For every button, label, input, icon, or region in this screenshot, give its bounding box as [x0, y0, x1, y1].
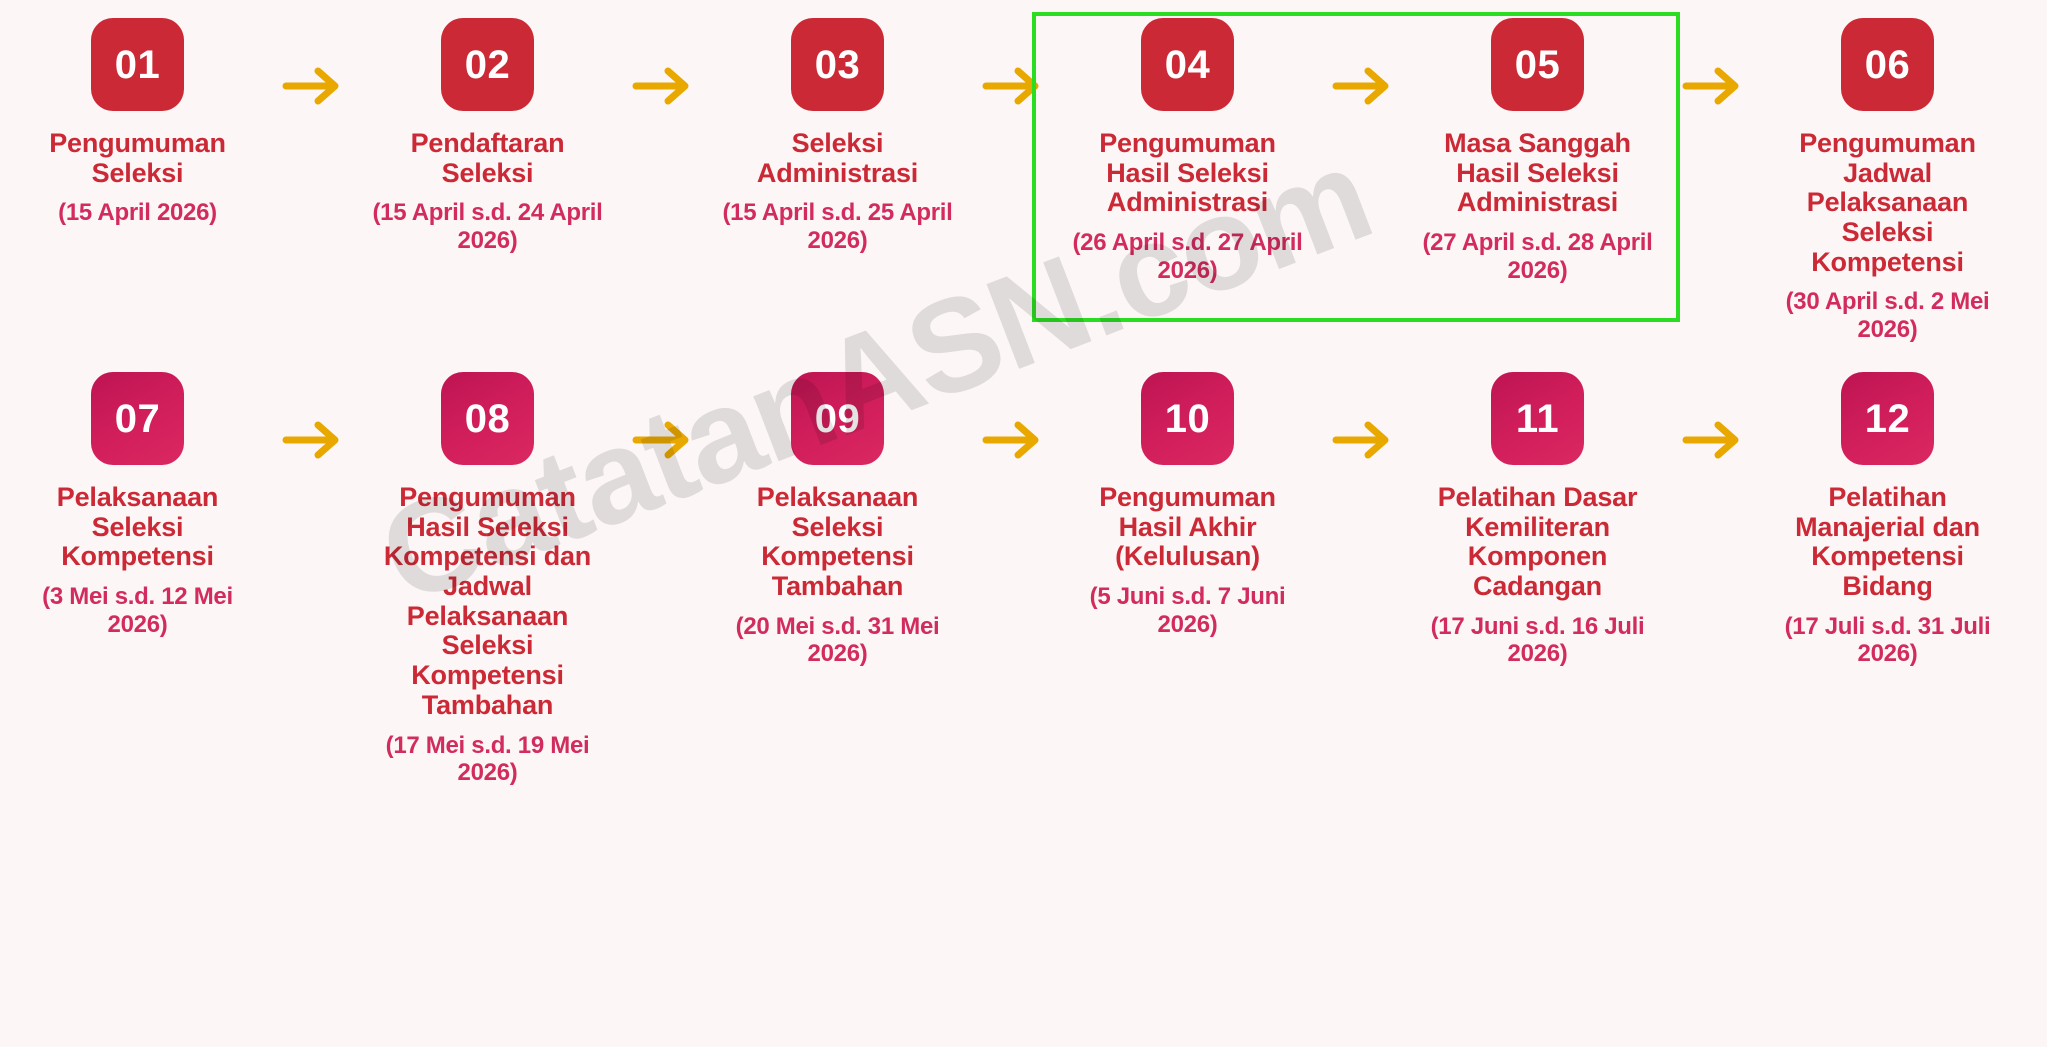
- connector-02-03: [605, 18, 720, 154]
- step-title: Seleksi Administrasi: [725, 129, 950, 188]
- arrow-right-icon: [982, 420, 1044, 460]
- step-title: Pengumuman Hasil Akhir (Kelulusan): [1075, 483, 1300, 572]
- step-title: Pelaksanaan Seleksi Kompetensi: [25, 483, 250, 572]
- step-number-badge: 12: [1841, 372, 1934, 465]
- arrow-right-icon: [1682, 420, 1744, 460]
- step-title: Pengumuman Seleksi: [25, 129, 250, 188]
- connector-04-05: [1305, 18, 1420, 154]
- arrow-right-icon: [632, 66, 694, 106]
- connector-09-10: [955, 372, 1070, 508]
- arrow-right-icon: [1682, 66, 1744, 106]
- step-number-badge: 06: [1841, 18, 1934, 111]
- arrow-right-icon: [282, 420, 344, 460]
- step-dates: (3 Mei s.d. 12 Mei 2026): [20, 583, 255, 638]
- arrow-right-icon: [982, 66, 1044, 106]
- step-dates: (20 Mei s.d. 31 Mei 2026): [720, 613, 955, 668]
- step-number-badge: 09: [791, 372, 884, 465]
- timeline-infographic: CatatanASN.com 01 Pengumuman Seleksi (15…: [0, 0, 2047, 1047]
- step-dates: (5 Juni s.d. 7 Juni 2026): [1070, 583, 1305, 638]
- timeline-step-10[interactable]: 10 Pengumuman Hasil Akhir (Kelulusan) (5…: [1070, 372, 1305, 638]
- step-dates: (15 April s.d. 24 April 2026): [370, 199, 605, 254]
- step-title: Pengumuman Hasil Seleksi Kompetensi dan …: [375, 483, 600, 721]
- step-dates: (27 April s.d. 28 April 2026): [1420, 229, 1655, 284]
- connector-07-08: [255, 372, 370, 508]
- step-dates: (15 April s.d. 25 April 2026): [720, 199, 955, 254]
- timeline-step-12[interactable]: 12 Pelatihan Manajerial dan Kompetensi B…: [1770, 372, 2005, 668]
- timeline-row-2: 07 Pelaksanaan Seleksi Kompetensi (3 Mei…: [0, 372, 2047, 787]
- timeline-step-01[interactable]: 01 Pengumuman Seleksi (15 April 2026): [20, 18, 255, 227]
- step-number-badge: 01: [91, 18, 184, 111]
- step-dates: (17 Juli s.d. 31 Juli 2026): [1770, 613, 2005, 668]
- step-title: Pelatihan Dasar Kemiliteran Komponen Cad…: [1425, 483, 1650, 602]
- step-dates: (15 April 2026): [20, 199, 255, 227]
- step-dates: (17 Juni s.d. 16 Juli 2026): [1420, 613, 1655, 668]
- connector-08-09: [605, 372, 720, 508]
- timeline-step-06[interactable]: 06 Pengumuman Jadwal Pelaksanaan Seleksi…: [1770, 18, 2005, 344]
- step-dates: (30 April s.d. 2 Mei 2026): [1770, 288, 2005, 343]
- timeline-step-08[interactable]: 08 Pengumuman Hasil Seleksi Kompetensi d…: [370, 372, 605, 787]
- timeline-step-09[interactable]: 09 Pelaksanaan Seleksi Kompetensi Tambah…: [720, 372, 955, 668]
- connector-05-06: [1655, 18, 1770, 154]
- step-dates: (26 April s.d. 27 April 2026): [1070, 229, 1305, 284]
- step-number-badge: 11: [1491, 372, 1584, 465]
- step-title: Pendaftaran Seleksi: [375, 129, 600, 188]
- step-number-badge: 05: [1491, 18, 1584, 111]
- connector-01-02: [255, 18, 370, 154]
- arrow-right-icon: [1332, 420, 1394, 460]
- step-number-badge: 03: [791, 18, 884, 111]
- connector-11-12: [1655, 372, 1770, 508]
- timeline-row-1: 01 Pengumuman Seleksi (15 April 2026) 02…: [0, 18, 2047, 344]
- timeline-step-05[interactable]: 05 Masa Sanggah Hasil Seleksi Administra…: [1420, 18, 1655, 284]
- connector-03-04: [955, 18, 1070, 154]
- timeline-step-02[interactable]: 02 Pendaftaran Seleksi (15 April s.d. 24…: [370, 18, 605, 255]
- timeline-step-11[interactable]: 11 Pelatihan Dasar Kemiliteran Komponen …: [1420, 372, 1655, 668]
- step-title: Pelaksanaan Seleksi Kompetensi Tambahan: [725, 483, 950, 602]
- step-title: Masa Sanggah Hasil Seleksi Administrasi: [1425, 129, 1650, 218]
- step-number-badge: 02: [441, 18, 534, 111]
- timeline-step-07[interactable]: 07 Pelaksanaan Seleksi Kompetensi (3 Mei…: [20, 372, 255, 638]
- arrow-right-icon: [632, 420, 694, 460]
- arrow-right-icon: [1332, 66, 1394, 106]
- step-number-badge: 10: [1141, 372, 1234, 465]
- step-number-badge: 04: [1141, 18, 1234, 111]
- connector-10-11: [1305, 372, 1420, 508]
- step-title: Pengumuman Jadwal Pelaksanaan Seleksi Ko…: [1775, 129, 2000, 277]
- timeline-step-03[interactable]: 03 Seleksi Administrasi (15 April s.d. 2…: [720, 18, 955, 255]
- step-number-badge: 08: [441, 372, 534, 465]
- step-title: Pelatihan Manajerial dan Kompetensi Bida…: [1775, 483, 2000, 602]
- step-dates: (17 Mei s.d. 19 Mei 2026): [370, 732, 605, 787]
- step-title: Pengumuman Hasil Seleksi Administrasi: [1075, 129, 1300, 218]
- timeline-step-04[interactable]: 04 Pengumuman Hasil Seleksi Administrasi…: [1070, 18, 1305, 284]
- arrow-right-icon: [282, 66, 344, 106]
- step-number-badge: 07: [91, 372, 184, 465]
